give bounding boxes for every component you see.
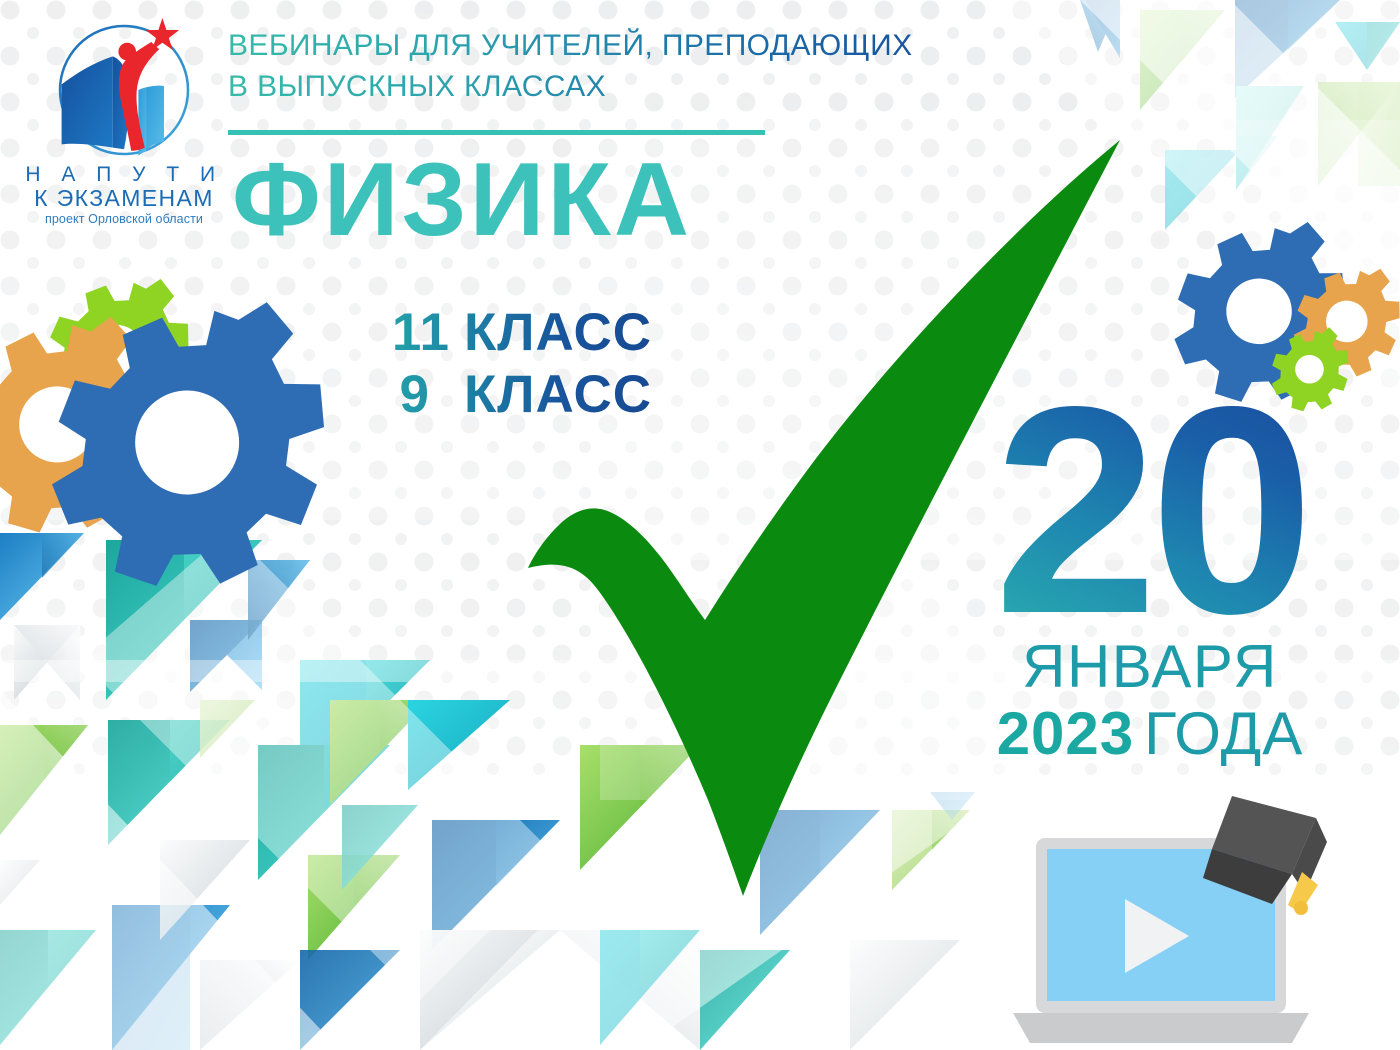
logo-subtitle: проект Орловской области <box>24 212 224 226</box>
date-block: 20 ЯНВАРЯ 2023ГОДА <box>965 388 1335 765</box>
grade-row-11: 11КЛАСС <box>322 302 652 364</box>
grade-row-9: 9КЛАСС <box>322 364 652 426</box>
date-year-row: 2023ГОДА <box>965 702 1335 765</box>
header-line-1: ВЕБИНАРЫ ДЛЯ УЧИТЕЛЕЙ, ПРЕПОДАЮЩИХ <box>228 25 1028 66</box>
date-year: 2023 <box>997 700 1134 767</box>
grade-number: 9 <box>399 365 429 424</box>
date-year-suffix: ГОДА <box>1144 700 1303 767</box>
grade-label: КЛАСС <box>464 365 652 424</box>
logo-line2: К ЭКЗАМЕНАМ <box>24 186 224 211</box>
logo-mark-icon <box>44 10 204 170</box>
grade-label: КЛАСС <box>464 303 652 362</box>
logo: Н А П У Т И К ЭКЗАМЕНАМ проект Орловской… <box>24 10 224 240</box>
grades-list: 11КЛАСС 9КЛАСС <box>322 302 652 426</box>
grade-number: 11 <box>392 303 450 362</box>
page-title-subject: ФИЗИКА <box>232 148 692 252</box>
date-day: 20 <box>965 388 1335 633</box>
header-text: ВЕБИНАРЫ ДЛЯ УЧИТЕЛЕЙ, ПРЕПОДАЮЩИХ В ВЫП… <box>228 25 1028 107</box>
header-line-2: В ВЫПУСКНЫХ КЛАССАХ <box>228 66 1028 107</box>
logo-line1: Н А П У Т И <box>24 164 224 186</box>
header-divider <box>228 130 765 135</box>
poster-canvas: Н А П У Т И К ЭКЗАМЕНАМ проект Орловской… <box>0 0 1400 1050</box>
